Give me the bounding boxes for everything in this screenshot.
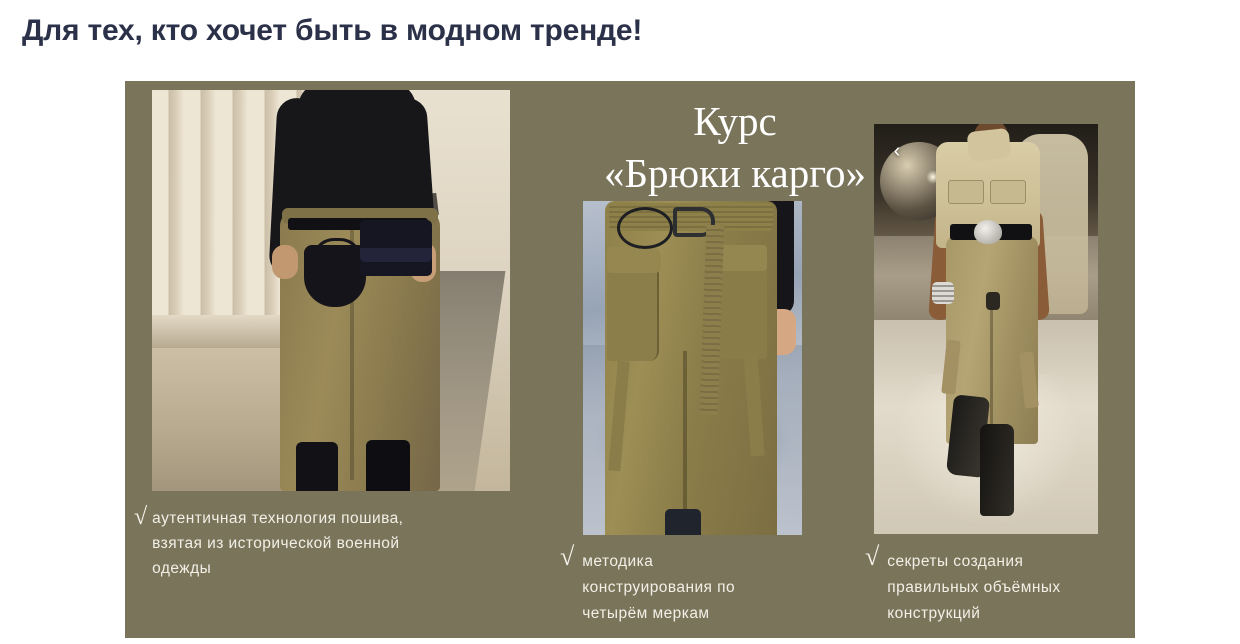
photo-model-cargo-pants-street[interactable] <box>152 90 510 491</box>
photo2-boot <box>665 509 701 535</box>
feature-text-1: аутентичная технология пошива, взятая из… <box>152 506 403 581</box>
photo2-belt-cord <box>617 207 673 249</box>
photo1-right-boot <box>366 440 410 491</box>
photo2-left-pocket-flap <box>607 247 661 273</box>
feature-text-3: секреты создания правильных объёмных кон… <box>887 549 1060 627</box>
slide-panel: Курс «Брюки карго» <box>125 81 1135 638</box>
feature-text-2: методика конструирования по четырём мерк… <box>582 549 735 627</box>
photo3-shirt-collar <box>967 128 1012 162</box>
photo2-inseam <box>683 351 687 531</box>
photo1-belt-bag-round <box>304 245 366 307</box>
course-heading-line-1: Курс <box>693 98 776 144</box>
page-title: Для тех, кто хочет быть в модном тренде! <box>22 14 642 48</box>
feature-item-3: √ секреты создания правильных объёмных к… <box>865 549 1115 627</box>
photo3-bracelet <box>932 282 954 304</box>
photo1-left-boot <box>296 442 338 491</box>
photo2-left-cargo-pocket <box>607 261 659 361</box>
photo1-belt-bag-flap <box>360 248 432 262</box>
check-icon: √ <box>865 547 879 567</box>
photo3-pants-detail <box>986 292 1000 310</box>
photo1-left-hand <box>272 245 298 279</box>
check-icon: √ <box>560 547 574 567</box>
photo3-right-boot <box>980 424 1014 516</box>
photo3-shirt-right-pocket <box>990 180 1026 204</box>
photo-runway-full-look[interactable]: ‹ <box>874 124 1098 534</box>
photo3-shirt-left-pocket <box>948 180 984 204</box>
photo3-leg-seam <box>990 310 993 440</box>
photo-runway-cargo-pants-closeup[interactable] <box>583 201 802 535</box>
photo3-belt-buckle <box>974 220 1002 244</box>
feature-item-1: √ аутентичная технология пошива, взятая … <box>134 506 514 581</box>
chevron-left-icon[interactable]: ‹ <box>886 140 908 162</box>
check-icon: √ <box>134 507 147 527</box>
feature-item-2: √ методика конструирования по четырём ме… <box>560 549 790 627</box>
